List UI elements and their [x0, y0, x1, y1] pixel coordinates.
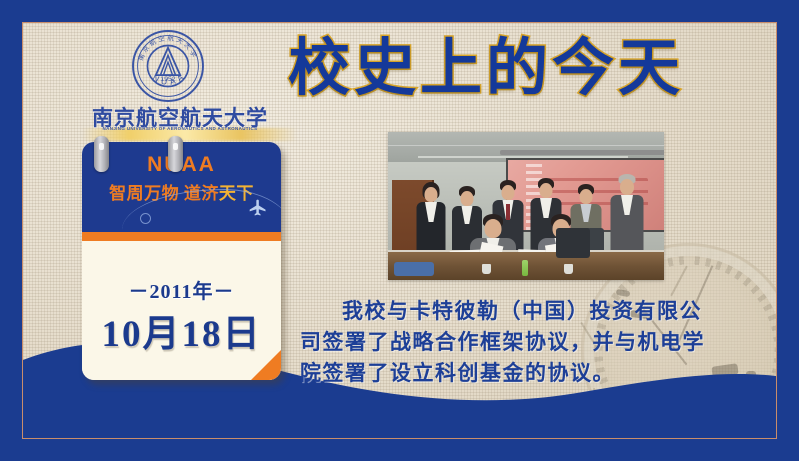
calendar-card: NUAA 智周万物 道济天下 －2011年－ 10月18日 [82, 142, 281, 380]
university-crest-icon: 1952 NUAA 南京航空航天大学 [130, 28, 206, 104]
page-curl-icon [251, 350, 281, 380]
swoosh-dot [140, 213, 151, 224]
caption-text: 我校与卡特彼勒（中国）投资有限公司签署了战略合作框架协议，并与机电学院签署了设立… [300, 296, 720, 389]
calendar-year: －2011年－ [82, 275, 281, 304]
poster-root: 1952 NUAA 南京航空航天大学 南京航空航天大学 NANJING UNIV… [0, 0, 799, 461]
event-photo [388, 132, 664, 280]
calendar-stripe [82, 232, 281, 241]
page-title: 校史上的今天 [288, 38, 684, 100]
calendar-body: －2011年－ 10月18日 [82, 241, 281, 380]
calendar-day-month: 10月18日 [82, 303, 281, 357]
university-name-en: NANJING UNIVERSITY OF AERONAUTICS AND AS… [78, 126, 282, 131]
airplane-icon [247, 198, 269, 218]
university-logo: 1952 NUAA 南京航空航天大学 南京航空航天大学 NANJING UNIV… [80, 28, 290, 133]
calendar-clip-left [94, 136, 109, 172]
calendar-clip-right [168, 136, 183, 172]
